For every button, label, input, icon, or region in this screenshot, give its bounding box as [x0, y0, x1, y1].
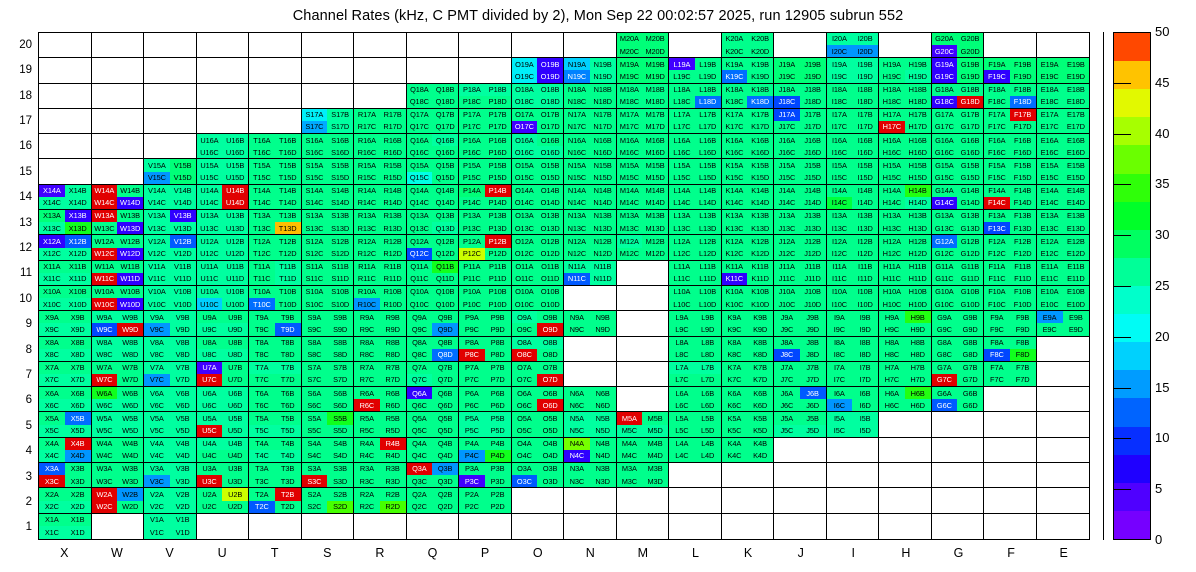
module-cell-V15[interactable]: V15AV15BV15CV15D [144, 159, 197, 184]
module-cell-E6[interactable] [1037, 387, 1090, 412]
module-cell-U5[interactable]: U5AU5BU5CU5D [197, 412, 250, 437]
module-cell-Q1[interactable] [407, 514, 460, 539]
module-cell-G4[interactable] [932, 438, 985, 463]
module-cell-E3[interactable] [1037, 463, 1090, 488]
module-cell-N17[interactable]: N17AN17BN17CN17D [564, 109, 617, 134]
module-cell-K12[interactable]: K12AK12BK12CK12D [722, 235, 775, 260]
module-cell-F6[interactable] [984, 387, 1037, 412]
module-cell-J15[interactable]: J15AJ15BJ15CJ15D [774, 159, 827, 184]
module-cell-Q11[interactable]: Q11AQ11BQ11CQ11D [407, 261, 460, 286]
module-cell-V13[interactable]: V13AV13BV13CV13D [144, 210, 197, 235]
module-cell-N8[interactable] [564, 337, 617, 362]
module-cell-I6[interactable]: I6AI6BI6CI6D [827, 387, 880, 412]
module-cell-O19[interactable]: O19AO19BO19CO19D [512, 58, 565, 83]
module-cell-Q15[interactable]: Q15AQ15BQ15CQ15D [407, 159, 460, 184]
module-cell-G18[interactable]: G18AG18BG18CG18D [932, 84, 985, 109]
module-cell-G1[interactable] [932, 514, 985, 539]
module-cell-J19[interactable]: J19AJ19BJ19CJ19D [774, 58, 827, 83]
module-cell-K11[interactable]: K11AK11BK11CK11D [722, 261, 775, 286]
module-cell-I20[interactable]: I20AI20BI20CI20D [827, 33, 880, 58]
module-cell-E7[interactable] [1037, 362, 1090, 387]
module-cell-K5[interactable]: K5AK5BK5CK5D [722, 412, 775, 437]
module-cell-H16[interactable]: H16AH16BH16CH16D [879, 134, 932, 159]
module-cell-E19[interactable]: E19AE19BE19CE19D [1037, 58, 1090, 83]
module-cell-O10[interactable]: O10AO10BO10CO10D [512, 286, 565, 311]
module-cell-U16[interactable]: U16AU16BU16CU16D [197, 134, 250, 159]
module-cell-U17[interactable] [197, 109, 250, 134]
module-cell-K18[interactable]: K18AK18BK18CK18D [722, 84, 775, 109]
module-cell-K8[interactable]: K8AK8BK8CK8D [722, 337, 775, 362]
module-cell-R9[interactable]: R9AR9BR9CR9D [354, 311, 407, 336]
module-cell-S1[interactable] [302, 514, 355, 539]
module-cell-P17[interactable]: P17AP17BP17CP17D [459, 109, 512, 134]
module-cell-H20[interactable] [879, 33, 932, 58]
module-cell-N11[interactable]: N11AN11BN11CN11D [564, 261, 617, 286]
module-cell-I18[interactable]: I18AI18BI18CI18D [827, 84, 880, 109]
module-cell-E16[interactable]: E16AE16BE16CE16D [1037, 134, 1090, 159]
module-cell-E4[interactable] [1037, 438, 1090, 463]
module-cell-O14[interactable]: O14AO14BO14CO14D [512, 185, 565, 210]
module-cell-L17[interactable]: L17AL17BL17CL17D [669, 109, 722, 134]
module-cell-N18[interactable]: N18AN18BN18CN18D [564, 84, 617, 109]
module-cell-U10[interactable]: U10AU10BU10CU10D [197, 286, 250, 311]
module-cell-V17[interactable] [144, 109, 197, 134]
module-cell-R10[interactable]: R10AR10BR10CR10D [354, 286, 407, 311]
module-cell-I7[interactable]: I7AI7BI7CI7D [827, 362, 880, 387]
module-cell-I5[interactable]: I5AI5BI5CI5D [827, 412, 880, 437]
module-cell-V6[interactable]: V6AV6BV6CV6D [144, 387, 197, 412]
module-cell-V2[interactable]: V2AV2BV2CV2D [144, 488, 197, 513]
module-cell-I19[interactable]: I19AI19BI19CI19D [827, 58, 880, 83]
module-cell-R11[interactable]: R11AR11BR11CR11D [354, 261, 407, 286]
module-cell-N1[interactable] [564, 514, 617, 539]
module-cell-X7[interactable]: X7AX7BX7CX7D [39, 362, 92, 387]
module-cell-Q6[interactable]: Q6AQ6BQ6CQ6D [407, 387, 460, 412]
module-cell-G11[interactable]: G11AG11BG11CG11D [932, 261, 985, 286]
module-cell-G16[interactable]: G16AG16BG16CG16D [932, 134, 985, 159]
module-cell-G3[interactable] [932, 463, 985, 488]
module-cell-L8[interactable]: L8AL8BL8CL8D [669, 337, 722, 362]
module-cell-N10[interactable] [564, 286, 617, 311]
module-cell-P16[interactable]: P16AP16BP16CP16D [459, 134, 512, 159]
module-cell-O18[interactable]: O18AO18BO18CO18D [512, 84, 565, 109]
module-cell-T20[interactable] [249, 33, 302, 58]
module-cell-L19[interactable]: L19AL19BL19CL19D [669, 58, 722, 83]
module-cell-X15[interactable] [39, 159, 92, 184]
module-cell-H18[interactable]: H18AH18BH18CH18D [879, 84, 932, 109]
module-cell-O8[interactable]: O8AO8BO8CO8D [512, 337, 565, 362]
module-cell-O3[interactable]: O3AO3BO3CO3D [512, 463, 565, 488]
module-cell-H2[interactable] [879, 488, 932, 513]
module-cell-L11[interactable]: L11AL11BL11CL11D [669, 261, 722, 286]
module-cell-T6[interactable]: T6AT6BT6CT6D [249, 387, 302, 412]
module-cell-X17[interactable] [39, 109, 92, 134]
module-cell-G12[interactable]: G12AG12BG12CG12D [932, 235, 985, 260]
module-cell-G2[interactable] [932, 488, 985, 513]
module-cell-F8[interactable]: F8AF8BF8CF8D [984, 337, 1037, 362]
module-cell-W15[interactable] [92, 159, 145, 184]
module-cell-G9[interactable]: G9AG9BG9CG9D [932, 311, 985, 336]
module-cell-G19[interactable]: G19AG19BG19CG19D [932, 58, 985, 83]
module-cell-L18[interactable]: L18AL18BL18CL18D [669, 84, 722, 109]
module-cell-M8[interactable] [617, 337, 670, 362]
module-cell-I10[interactable]: I10AI10BI10CI10D [827, 286, 880, 311]
module-cell-N20[interactable] [564, 33, 617, 58]
module-cell-Q18[interactable]: Q18AQ18BQ18CQ18D [407, 84, 460, 109]
module-cell-S15[interactable]: S15AS15BS15CS15D [302, 159, 355, 184]
module-cell-M20[interactable]: M20AM20BM20CM20D [617, 33, 670, 58]
module-cell-O1[interactable] [512, 514, 565, 539]
module-cell-X20[interactable] [39, 33, 92, 58]
module-cell-M9[interactable] [617, 311, 670, 336]
module-cell-Q14[interactable]: Q14AQ14BQ14CQ14D [407, 185, 460, 210]
module-cell-F3[interactable] [984, 463, 1037, 488]
module-cell-X9[interactable]: X9AX9BX9CX9D [39, 311, 92, 336]
module-cell-I17[interactable]: I17AI17BI17CI17D [827, 109, 880, 134]
module-cell-U8[interactable]: U8AU8BU8CU8D [197, 337, 250, 362]
module-cell-U6[interactable]: U6AU6BU6CU6D [197, 387, 250, 412]
module-cell-F18[interactable]: F18AF18BF18CF18D [984, 84, 1037, 109]
module-cell-R2[interactable]: R2AR2BR2CR2D [354, 488, 407, 513]
module-cell-E20[interactable] [1037, 33, 1090, 58]
module-cell-F5[interactable] [984, 412, 1037, 437]
module-cell-E17[interactable]: E17AE17BE17CE17D [1037, 109, 1090, 134]
module-cell-G14[interactable]: G14AG14BG14CG14D [932, 185, 985, 210]
module-cell-E13[interactable]: E13AE13BE13CE13D [1037, 210, 1090, 235]
module-cell-T13[interactable]: T13AT13BT13CT13D [249, 210, 302, 235]
module-cell-W18[interactable] [92, 84, 145, 109]
module-cell-L16[interactable]: L16AL16BL16CL16D [669, 134, 722, 159]
module-cell-P12[interactable]: P12AP12BP12CP12D [459, 235, 512, 260]
module-cell-E12[interactable]: E12AE12BE12CE12D [1037, 235, 1090, 260]
module-cell-F19[interactable]: F19AF19BF19CF19D [984, 58, 1037, 83]
module-cell-R7[interactable]: R7AR7BR7CR7D [354, 362, 407, 387]
module-cell-J6[interactable]: J6AJ6BJ6CJ6D [774, 387, 827, 412]
module-cell-P5[interactable]: P5AP5BP5CP5D [459, 412, 512, 437]
module-cell-L5[interactable]: L5AL5BL5CL5D [669, 412, 722, 437]
module-cell-F13[interactable]: F13AF13BF13CF13D [984, 210, 1037, 235]
module-cell-O17[interactable]: O17AO17BO17CO17D [512, 109, 565, 134]
module-cell-N7[interactable] [564, 362, 617, 387]
module-cell-U18[interactable] [197, 84, 250, 109]
module-cell-O13[interactable]: O13AO13BO13CO13D [512, 210, 565, 235]
module-cell-V9[interactable]: V9AV9BV9CV9D [144, 311, 197, 336]
module-cell-J5[interactable]: J5AJ5BJ5CJ5D [774, 412, 827, 437]
module-cell-V4[interactable]: V4AV4BV4CV4D [144, 438, 197, 463]
module-cell-S2[interactable]: S2AS2BS2CS2D [302, 488, 355, 513]
module-cell-O4[interactable]: O4AO4BO4CO4D [512, 438, 565, 463]
module-cell-N3[interactable]: N3AN3BN3CN3D [564, 463, 617, 488]
module-cell-L7[interactable]: L7AL7BL7CL7D [669, 362, 722, 387]
module-cell-H15[interactable]: H15AH15BH15CH15D [879, 159, 932, 184]
module-cell-W1[interactable] [92, 514, 145, 539]
module-cell-W13[interactable]: W13AW13BW13CW13D [92, 210, 145, 235]
module-cell-T11[interactable]: T11AT11BT11CT11D [249, 261, 302, 286]
module-cell-S18[interactable] [302, 84, 355, 109]
module-cell-H11[interactable]: H11AH11BH11CH11D [879, 261, 932, 286]
module-cell-I2[interactable] [827, 488, 880, 513]
module-cell-P10[interactable]: P10AP10BP10CP10D [459, 286, 512, 311]
module-cell-F4[interactable] [984, 438, 1037, 463]
module-cell-X3[interactable]: X3AX3BX3CX3D [39, 463, 92, 488]
module-cell-X1[interactable]: X1AX1BX1CX1D [39, 514, 92, 539]
module-cell-T16[interactable]: T16AT16BT16CT16D [249, 134, 302, 159]
module-cell-Q19[interactable] [407, 58, 460, 83]
module-cell-J13[interactable]: J13AJ13BJ13CJ13D [774, 210, 827, 235]
module-cell-G8[interactable]: G8AG8BG8CG8D [932, 337, 985, 362]
module-cell-H6[interactable]: H6AH6BH6CH6D [879, 387, 932, 412]
module-cell-T10[interactable]: T10AT10BT10CT10D [249, 286, 302, 311]
module-cell-X4[interactable]: X4AX4BX4CX4D [39, 438, 92, 463]
module-cell-G17[interactable]: G17AG17BG17CG17D [932, 109, 985, 134]
module-cell-L6[interactable]: L6AL6BL6CL6D [669, 387, 722, 412]
module-cell-R20[interactable] [354, 33, 407, 58]
module-cell-L14[interactable]: L14AL14BL14CL14D [669, 185, 722, 210]
module-cell-E10[interactable]: E10AE10BE10CE10D [1037, 286, 1090, 311]
module-cell-J7[interactable]: J7AJ7BJ7CJ7D [774, 362, 827, 387]
module-cell-P14[interactable]: P14AP14BP14CP14D [459, 185, 512, 210]
module-cell-F12[interactable]: F12AF12BF12CF12D [984, 235, 1037, 260]
module-cell-F2[interactable] [984, 488, 1037, 513]
module-cell-P11[interactable]: P11AP11BP11CP11D [459, 261, 512, 286]
module-cell-I16[interactable]: I16AI16BI16CI16D [827, 134, 880, 159]
module-cell-L20[interactable] [669, 33, 722, 58]
module-cell-U2[interactable]: U2AU2BU2CU2D [197, 488, 250, 513]
module-cell-W11[interactable]: W11AW11BW11CW11D [92, 261, 145, 286]
module-cell-K7[interactable]: K7AK7BK7CK7D [722, 362, 775, 387]
module-cell-T5[interactable]: T5AT5BT5CT5D [249, 412, 302, 437]
module-cell-H19[interactable]: H19AH19BH19CH19D [879, 58, 932, 83]
module-cell-E11[interactable]: E11AE11BE11CE11D [1037, 261, 1090, 286]
module-cell-L4[interactable]: L4AL4BL4CL4D [669, 438, 722, 463]
module-cell-U1[interactable] [197, 514, 250, 539]
module-cell-H10[interactable]: H10AH10BH10CH10D [879, 286, 932, 311]
module-cell-M14[interactable]: M14AM14BM14CM14D [617, 185, 670, 210]
module-cell-O5[interactable]: O5AO5BO5CO5D [512, 412, 565, 437]
module-cell-R8[interactable]: R8AR8BR8CR8D [354, 337, 407, 362]
module-cell-R1[interactable] [354, 514, 407, 539]
module-cell-K3[interactable] [722, 463, 775, 488]
module-cell-H12[interactable]: H12AH12BH12CH12D [879, 235, 932, 260]
module-cell-V8[interactable]: V8AV8BV8CV8D [144, 337, 197, 362]
module-cell-S4[interactable]: S4AS4BS4CS4D [302, 438, 355, 463]
module-cell-F16[interactable]: F16AF16BF16CF16D [984, 134, 1037, 159]
module-cell-M19[interactable]: M19AM19BM19CM19D [617, 58, 670, 83]
module-cell-N13[interactable]: N13AN13BN13CN13D [564, 210, 617, 235]
module-cell-N15[interactable]: N15AN15BN15CN15D [564, 159, 617, 184]
module-cell-V12[interactable]: V12AV12BV12CV12D [144, 235, 197, 260]
module-cell-M5[interactable]: M5AM5BM5CM5D [617, 412, 670, 437]
module-cell-N16[interactable]: N16AN16BN16CN16D [564, 134, 617, 159]
module-cell-S3[interactable]: S3AS3BS3CS3D [302, 463, 355, 488]
module-cell-S14[interactable]: S14AS14BS14CS14D [302, 185, 355, 210]
module-cell-V19[interactable] [144, 58, 197, 83]
module-cell-X5[interactable]: X5AX5BX5CX5D [39, 412, 92, 437]
module-cell-G6[interactable]: G6AG6BG6CG6D [932, 387, 985, 412]
module-cell-S6[interactable]: S6AS6BS6CS6D [302, 387, 355, 412]
module-cell-M11[interactable] [617, 261, 670, 286]
module-cell-V20[interactable] [144, 33, 197, 58]
module-cell-J8[interactable]: J8AJ8BJ8CJ8D [774, 337, 827, 362]
module-cell-K19[interactable]: K19AK19BK19CK19D [722, 58, 775, 83]
module-cell-F15[interactable]: F15AF15BF15CF15D [984, 159, 1037, 184]
module-cell-N4[interactable]: N4AN4BN4CN4D [564, 438, 617, 463]
module-cell-I4[interactable] [827, 438, 880, 463]
module-cell-W5[interactable]: W5AW5BW5CW5D [92, 412, 145, 437]
module-cell-W16[interactable] [92, 134, 145, 159]
module-cell-J3[interactable] [774, 463, 827, 488]
module-cell-X8[interactable]: X8AX8BX8CX8D [39, 337, 92, 362]
module-cell-P1[interactable] [459, 514, 512, 539]
module-cell-X11[interactable]: X11AX11BX11CX11D [39, 261, 92, 286]
module-cell-U20[interactable] [197, 33, 250, 58]
module-cell-R19[interactable] [354, 58, 407, 83]
module-cell-Q8[interactable]: Q8AQ8BQ8CQ8D [407, 337, 460, 362]
module-cell-N19[interactable]: N19AN19BN19CN19D [564, 58, 617, 83]
module-cell-T7[interactable]: T7AT7BT7CT7D [249, 362, 302, 387]
module-cell-K14[interactable]: K14AK14BK14CK14D [722, 185, 775, 210]
module-cell-G7[interactable]: G7AG7BG7CG7D [932, 362, 985, 387]
module-cell-O2[interactable] [512, 488, 565, 513]
module-cell-S9[interactable]: S9AS9BS9CS9D [302, 311, 355, 336]
module-cell-W6[interactable]: W6AW6BW6CW6D [92, 387, 145, 412]
module-cell-E14[interactable]: E14AE14BE14CE14D [1037, 185, 1090, 210]
module-cell-F7[interactable]: F7AF7BF7CF7D [984, 362, 1037, 387]
module-cell-J20[interactable] [774, 33, 827, 58]
module-cell-E18[interactable]: E18AE18BE18CE18D [1037, 84, 1090, 109]
module-cell-X2[interactable]: X2AX2BX2CX2D [39, 488, 92, 513]
module-cell-S19[interactable] [302, 58, 355, 83]
module-cell-S10[interactable]: S10AS10BS10CS10D [302, 286, 355, 311]
module-cell-J18[interactable]: J18AJ18BJ18CJ18D [774, 84, 827, 109]
module-cell-W9[interactable]: W9AW9BW9CW9D [92, 311, 145, 336]
module-cell-T4[interactable]: T4AT4BT4CT4D [249, 438, 302, 463]
module-cell-T14[interactable]: T14AT14BT14CT14D [249, 185, 302, 210]
module-cell-S11[interactable]: S11AS11BS11CS11D [302, 261, 355, 286]
module-cell-R17[interactable]: R17AR17BR17CR17D [354, 109, 407, 134]
module-cell-H9[interactable]: H9AH9BH9CH9D [879, 311, 932, 336]
module-cell-W14[interactable]: W14AW14BW14CW14D [92, 185, 145, 210]
module-cell-I14[interactable]: I14AI14BI14CI14D [827, 185, 880, 210]
module-cell-I1[interactable] [827, 514, 880, 539]
module-cell-M12[interactable]: M12AM12BM12CM12D [617, 235, 670, 260]
module-cell-Q7[interactable]: Q7AQ7BQ7CQ7D [407, 362, 460, 387]
module-cell-Q20[interactable] [407, 33, 460, 58]
module-cell-W17[interactable] [92, 109, 145, 134]
module-cell-F9[interactable]: F9AF9BF9CF9D [984, 311, 1037, 336]
module-cell-L12[interactable]: L12AL12BL12CL12D [669, 235, 722, 260]
module-cell-J1[interactable] [774, 514, 827, 539]
module-cell-E1[interactable] [1037, 514, 1090, 539]
module-cell-V3[interactable]: V3AV3BV3CV3D [144, 463, 197, 488]
module-cell-M13[interactable]: M13AM13BM13CM13D [617, 210, 670, 235]
module-cell-W7[interactable]: W7AW7BW7CW7D [92, 362, 145, 387]
module-cell-X19[interactable] [39, 58, 92, 83]
module-cell-O7[interactable]: O7AO7BO7CO7D [512, 362, 565, 387]
module-cell-R16[interactable]: R16AR16BR16CR16D [354, 134, 407, 159]
module-cell-V1[interactable]: V1AV1BV1CV1D [144, 514, 197, 539]
module-cell-S13[interactable]: S13AS13BS13CS13D [302, 210, 355, 235]
module-cell-P4[interactable]: P4AP4BP4CP4D [459, 438, 512, 463]
module-cell-P9[interactable]: P9AP9BP9CP9D [459, 311, 512, 336]
module-cell-Q4[interactable]: Q4AQ4BQ4CQ4D [407, 438, 460, 463]
module-cell-T15[interactable]: T15AT15BT15CT15D [249, 159, 302, 184]
module-cell-X10[interactable]: X10AX10BX10CX10D [39, 286, 92, 311]
module-cell-R3[interactable]: R3AR3BR3CR3D [354, 463, 407, 488]
module-cell-T3[interactable]: T3AT3BT3CT3D [249, 463, 302, 488]
module-cell-W20[interactable] [92, 33, 145, 58]
module-cell-H5[interactable] [879, 412, 932, 437]
module-cell-K17[interactable]: K17AK17BK17CK17D [722, 109, 775, 134]
module-cell-J12[interactable]: J12AJ12BJ12CJ12D [774, 235, 827, 260]
module-cell-F17[interactable]: F17AF17BF17CF17D [984, 109, 1037, 134]
module-cell-U14[interactable]: U14AU14BU14CU14D [197, 185, 250, 210]
module-cell-Q12[interactable]: Q12AQ12BQ12CQ12D [407, 235, 460, 260]
module-cell-H7[interactable]: H7AH7BH7CH7D [879, 362, 932, 387]
module-cell-U7[interactable]: U7AU7BU7CU7D [197, 362, 250, 387]
module-cell-S12[interactable]: S12AS12BS12CS12D [302, 235, 355, 260]
module-cell-V14[interactable]: V14AV14BV14CV14D [144, 185, 197, 210]
module-cell-H3[interactable] [879, 463, 932, 488]
module-cell-G5[interactable] [932, 412, 985, 437]
module-cell-X13[interactable]: X13AX13BX13CX13D [39, 210, 92, 235]
module-cell-P18[interactable]: P18AP18BP18CP18D [459, 84, 512, 109]
module-cell-M15[interactable]: M15AM15BM15CM15D [617, 159, 670, 184]
module-cell-I3[interactable] [827, 463, 880, 488]
module-cell-J17[interactable]: J17AJ17BJ17CJ17D [774, 109, 827, 134]
module-cell-I13[interactable]: I13AI13BI13CI13D [827, 210, 880, 235]
module-cell-J14[interactable]: J14AJ14BJ14CJ14D [774, 185, 827, 210]
module-cell-M18[interactable]: M18AM18BM18CM18D [617, 84, 670, 109]
module-cell-G10[interactable]: G10AG10BG10CG10D [932, 286, 985, 311]
module-cell-H8[interactable]: H8AH8BH8CH8D [879, 337, 932, 362]
module-cell-R5[interactable]: R5AR5BR5CR5D [354, 412, 407, 437]
module-cell-E8[interactable] [1037, 337, 1090, 362]
module-cell-U4[interactable]: U4AU4BU4CU4D [197, 438, 250, 463]
module-cell-H17[interactable]: H17AH17BH17CH17D [879, 109, 932, 134]
module-cell-P8[interactable]: P8AP8BP8CP8D [459, 337, 512, 362]
module-cell-S20[interactable] [302, 33, 355, 58]
module-cell-R15[interactable]: R15AR15BR15CR15D [354, 159, 407, 184]
module-cell-M10[interactable] [617, 286, 670, 311]
module-cell-N2[interactable] [564, 488, 617, 513]
module-cell-O15[interactable]: O15AO15BO15CO15D [512, 159, 565, 184]
module-cell-O20[interactable] [512, 33, 565, 58]
module-cell-F10[interactable]: F10AF10BF10CF10D [984, 286, 1037, 311]
module-cell-R14[interactable]: R14AR14BR14CR14D [354, 185, 407, 210]
module-cell-K1[interactable] [722, 514, 775, 539]
module-cell-R13[interactable]: R13AR13BR13CR13D [354, 210, 407, 235]
module-cell-E15[interactable]: E15AE15BE15CE15D [1037, 159, 1090, 184]
module-cell-T9[interactable]: T9AT9BT9CT9D [249, 311, 302, 336]
module-cell-O9[interactable]: O9AO9BO9CO9D [512, 311, 565, 336]
module-cell-Q9[interactable]: Q9AQ9BQ9CQ9D [407, 311, 460, 336]
module-cell-K2[interactable] [722, 488, 775, 513]
module-cell-W8[interactable]: W8AW8BW8CW8D [92, 337, 145, 362]
module-cell-K20[interactable]: K20AK20BK20CK20D [722, 33, 775, 58]
module-cell-H4[interactable] [879, 438, 932, 463]
module-cell-V11[interactable]: V11AV11BV11CV11D [144, 261, 197, 286]
module-cell-T19[interactable] [249, 58, 302, 83]
module-cell-E2[interactable] [1037, 488, 1090, 513]
module-cell-F1[interactable] [984, 514, 1037, 539]
module-cell-T1[interactable] [249, 514, 302, 539]
module-cell-M4[interactable]: M4AM4BM4CM4D [617, 438, 670, 463]
module-cell-Q5[interactable]: Q5AQ5BQ5CQ5D [407, 412, 460, 437]
module-cell-J10[interactable]: J10AJ10BJ10CJ10D [774, 286, 827, 311]
module-cell-J9[interactable]: J9AJ9BJ9CJ9D [774, 311, 827, 336]
module-cell-K9[interactable]: K9AK9BK9CK9D [722, 311, 775, 336]
